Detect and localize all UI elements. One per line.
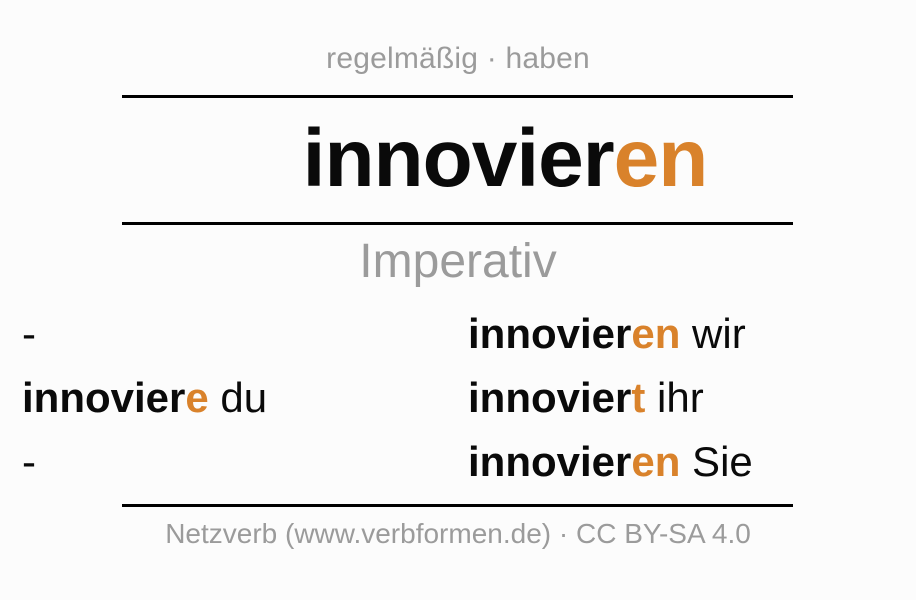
divider-bottom <box>122 504 793 507</box>
form-row: innoviere du innoviert ihr <box>0 366 916 430</box>
verb-form: innovieren wir <box>468 310 746 357</box>
verb-stem: innovier <box>303 113 614 204</box>
form-stem: innovier <box>468 438 631 485</box>
footer-credit: Netzverb (www.verbformen.de) · CC BY-SA … <box>0 518 916 550</box>
verb-form: innovieren Sie <box>468 438 753 485</box>
form-pronoun: du <box>209 374 267 421</box>
verb-title: innovieren <box>0 104 916 214</box>
form-pronoun: Sie <box>680 438 752 485</box>
form-ending: en <box>631 310 680 357</box>
form-cell-right: innovieren wir <box>468 313 916 355</box>
verb-form: - <box>22 310 36 357</box>
form-row: - innovieren wir <box>0 302 916 366</box>
form-cell-left: - <box>0 313 468 355</box>
form-cell-left: innoviere du <box>0 377 468 419</box>
conjugation-forms: - innovieren wir innoviere du innoviert … <box>0 302 916 497</box>
verb-attributes: regelmäßig · haben <box>0 42 916 76</box>
tense-heading: Imperativ <box>0 238 916 286</box>
form-pronoun: ihr <box>645 374 703 421</box>
form-stem: innovier <box>468 374 631 421</box>
form-row: - innovieren Sie <box>0 430 916 494</box>
verb-form: innoviert ihr <box>468 374 704 421</box>
form-cell-left: - <box>0 441 468 483</box>
form-stem: - <box>22 310 36 357</box>
conjugation-card: regelmäßig · haben innovieren Imperativ … <box>0 0 916 600</box>
form-pronoun: wir <box>680 310 745 357</box>
verb-ending: en <box>614 113 708 204</box>
divider-top <box>122 95 793 98</box>
form-stem: innovier <box>468 310 631 357</box>
verb-infinitive: innovieren <box>303 118 708 200</box>
form-ending: e <box>185 374 208 421</box>
german-flag-icon <box>209 125 281 197</box>
form-stem: innovier <box>22 374 185 421</box>
divider-middle <box>122 222 793 225</box>
form-cell-right: innoviert ihr <box>468 377 916 419</box>
form-stem: - <box>22 438 36 485</box>
verb-form: innoviere du <box>22 374 267 421</box>
form-cell-right: innovieren Sie <box>468 441 916 483</box>
form-ending: en <box>631 438 680 485</box>
verb-form: - <box>22 438 36 485</box>
form-ending: t <box>631 374 645 421</box>
